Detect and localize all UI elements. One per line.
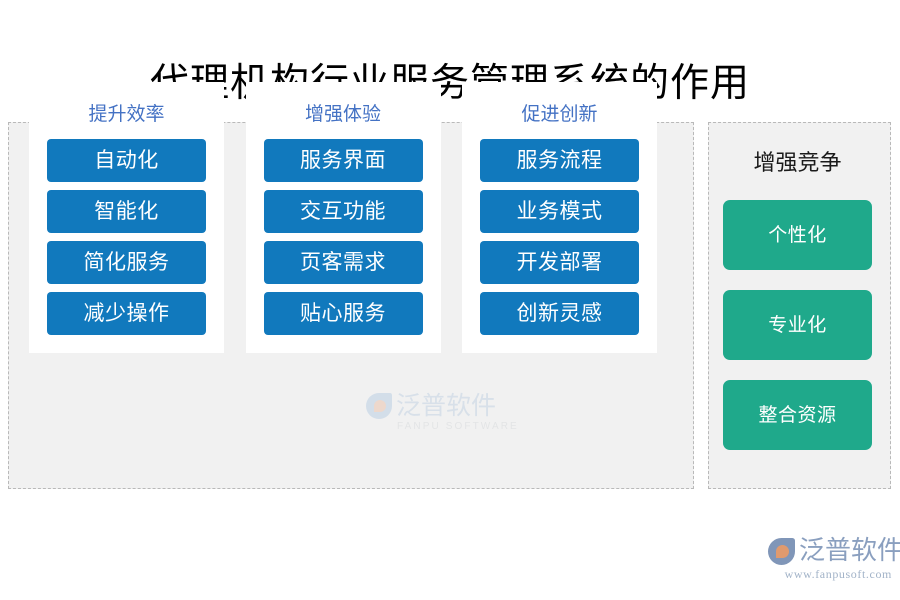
competitive-box[interactable]: 个性化 — [723, 200, 872, 270]
column-card-efficiency: 提升效率 自动化 智能化 简化服务 减少操作 — [29, 82, 224, 353]
right-panel-content: 增强竞争 个性化 专业化 整合资源 — [723, 122, 872, 450]
competitive-box[interactable]: 专业化 — [723, 290, 872, 360]
column-header: 促进创新 — [480, 102, 639, 126]
feature-box[interactable]: 贴心服务 — [264, 292, 423, 335]
feature-box[interactable]: 服务流程 — [480, 139, 639, 182]
feature-box[interactable]: 智能化 — [47, 190, 206, 233]
feature-box[interactable]: 自动化 — [47, 139, 206, 182]
feature-box[interactable]: 页客需求 — [264, 241, 423, 284]
feature-box[interactable]: 简化服务 — [47, 241, 206, 284]
feature-box[interactable]: 创新灵感 — [480, 292, 639, 335]
brand-logo: 泛普软件 www.fanpusoft.com — [768, 536, 892, 584]
logo-name: 泛普软件 — [799, 536, 900, 566]
fanpu-logo-icon — [768, 538, 795, 565]
feature-box[interactable]: 减少操作 — [47, 292, 206, 335]
column-card-innovation: 促进创新 服务流程 业务模式 开发部署 创新灵感 — [462, 82, 657, 353]
feature-box[interactable]: 开发部署 — [480, 241, 639, 284]
logo-row: 泛普软件 — [768, 536, 892, 566]
logo-url: www.fanpusoft.com — [768, 567, 892, 582]
competitive-box[interactable]: 整合资源 — [723, 380, 872, 450]
column-card-experience: 增强体验 服务界面 交互功能 页客需求 贴心服务 — [246, 82, 441, 353]
feature-box[interactable]: 业务模式 — [480, 190, 639, 233]
column-header: 增强体验 — [264, 102, 423, 126]
column-group: 提升效率 自动化 智能化 简化服务 减少操作 增强体验 服务界面 交互功能 页客… — [29, 82, 657, 353]
right-panel-header: 增强竞争 — [723, 150, 872, 178]
feature-box[interactable]: 交互功能 — [264, 190, 423, 233]
feature-box[interactable]: 服务界面 — [264, 139, 423, 182]
column-header: 提升效率 — [47, 102, 206, 126]
